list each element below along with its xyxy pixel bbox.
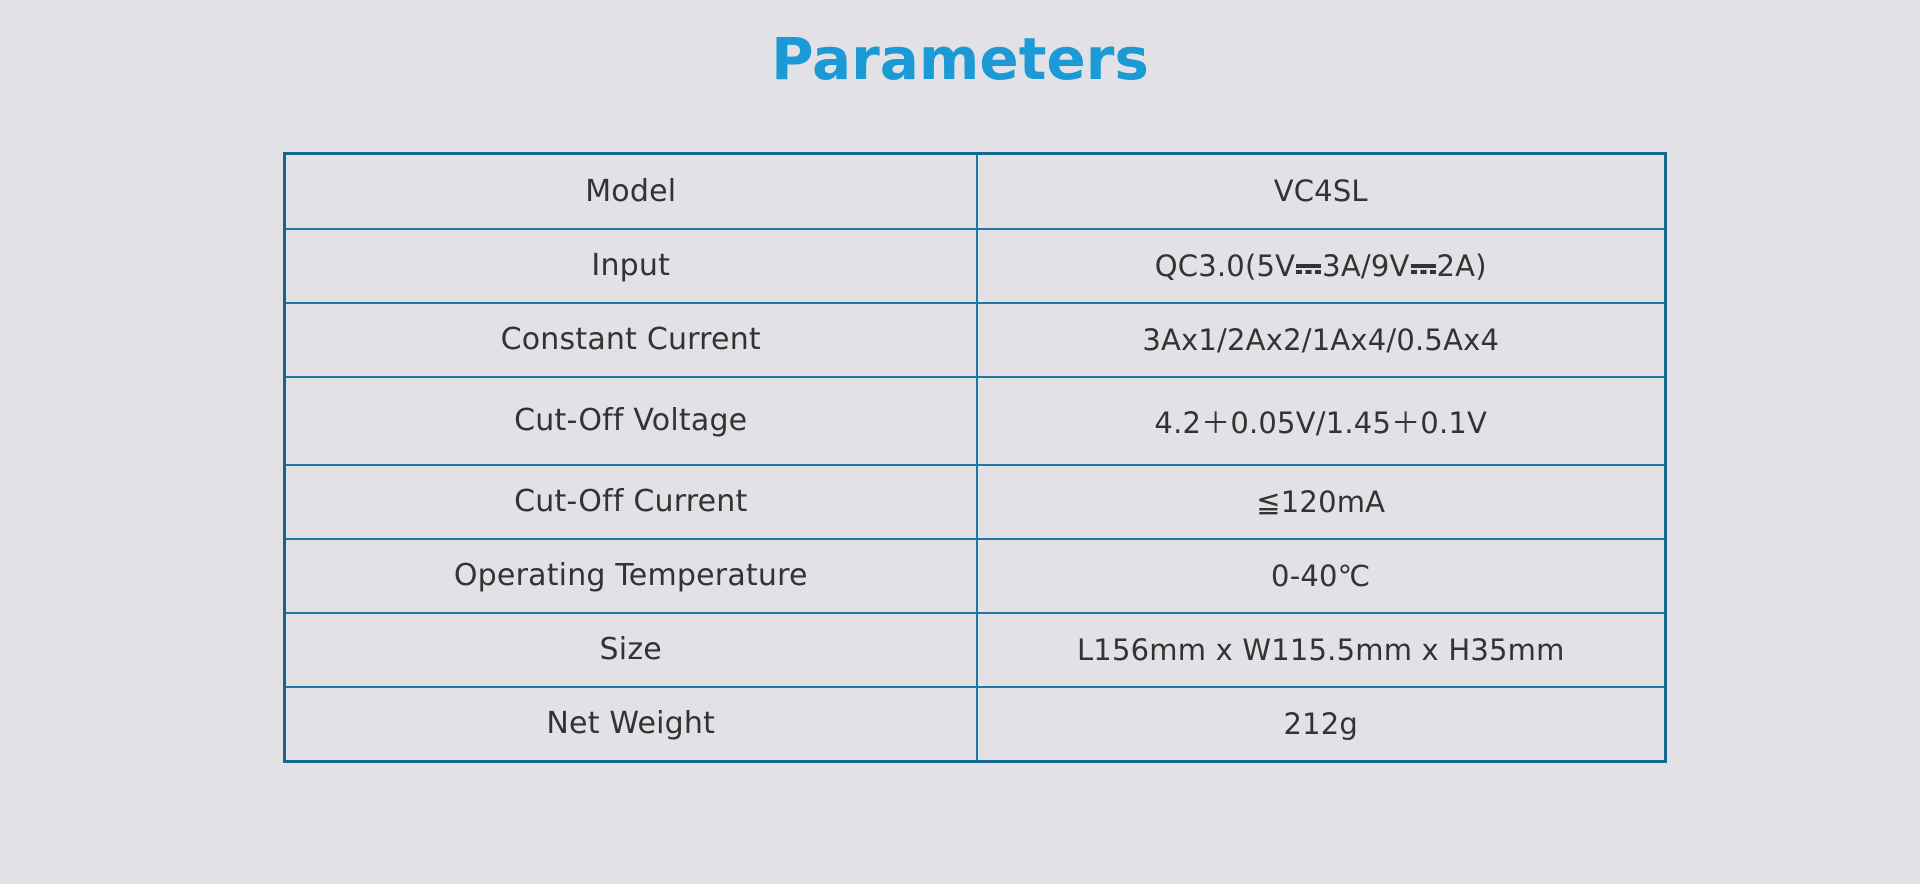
spec-value-constant-current: 3Ax1/2Ax2/1Ax4/0.5Ax4 xyxy=(977,303,1666,377)
table-row: Operating Temperature 0-40℃ xyxy=(285,539,1666,613)
spec-value-cut-off-current: ≦120mA xyxy=(977,465,1666,539)
input-value-segment-3: 2A) xyxy=(1437,249,1487,283)
spec-label-constant-current: Constant Current xyxy=(285,303,977,377)
parameters-page: Parameters Model VC4SL Input QC3.0(5V3A/… xyxy=(0,0,1920,884)
dc-power-icon xyxy=(1296,257,1321,279)
input-value-segment-2: 3A/9V xyxy=(1322,249,1409,283)
table-row: Cut-Off Voltage 4.2＋0.05V/1.45＋0.1V xyxy=(285,377,1666,465)
spec-value-model: VC4SL xyxy=(977,154,1666,229)
spec-label-net-weight: Net Weight xyxy=(285,687,977,762)
table-row: Model VC4SL xyxy=(285,154,1666,229)
spec-label-cut-off-current: Cut-Off Current xyxy=(285,465,977,539)
spec-value-net-weight: 212g xyxy=(977,687,1666,762)
table-row: Net Weight 212g xyxy=(285,687,1666,762)
dc-power-icon xyxy=(1411,257,1436,279)
spec-label-input: Input xyxy=(285,229,977,303)
spec-label-operating-temperature: Operating Temperature xyxy=(285,539,977,613)
spec-value-input: QC3.0(5V3A/9V2A) xyxy=(977,229,1666,303)
page-title: Parameters xyxy=(0,28,1920,92)
specifications-table: Model VC4SL Input QC3.0(5V3A/9V2A) Const… xyxy=(283,152,1667,763)
table-row: Constant Current 3Ax1/2Ax2/1Ax4/0.5Ax4 xyxy=(285,303,1666,377)
input-value-segment-1: QC3.0(5V xyxy=(1155,249,1295,283)
spec-label-size: Size xyxy=(285,613,977,687)
table-row: Cut-Off Current ≦120mA xyxy=(285,465,1666,539)
specifications-table-body: Model VC4SL Input QC3.0(5V3A/9V2A) Const… xyxy=(285,154,1666,762)
spec-value-operating-temperature: 0-40℃ xyxy=(977,539,1666,613)
table-row: Input QC3.0(5V3A/9V2A) xyxy=(285,229,1666,303)
specifications-table-container: Model VC4SL Input QC3.0(5V3A/9V2A) Const… xyxy=(283,152,1664,763)
spec-label-model: Model xyxy=(285,154,977,229)
spec-value-size: L156mm x W115.5mm x H35mm xyxy=(977,613,1666,687)
table-row: Size L156mm x W115.5mm x H35mm xyxy=(285,613,1666,687)
spec-label-cut-off-voltage: Cut-Off Voltage xyxy=(285,377,977,465)
spec-value-cut-off-voltage: 4.2＋0.05V/1.45＋0.1V xyxy=(977,377,1666,465)
